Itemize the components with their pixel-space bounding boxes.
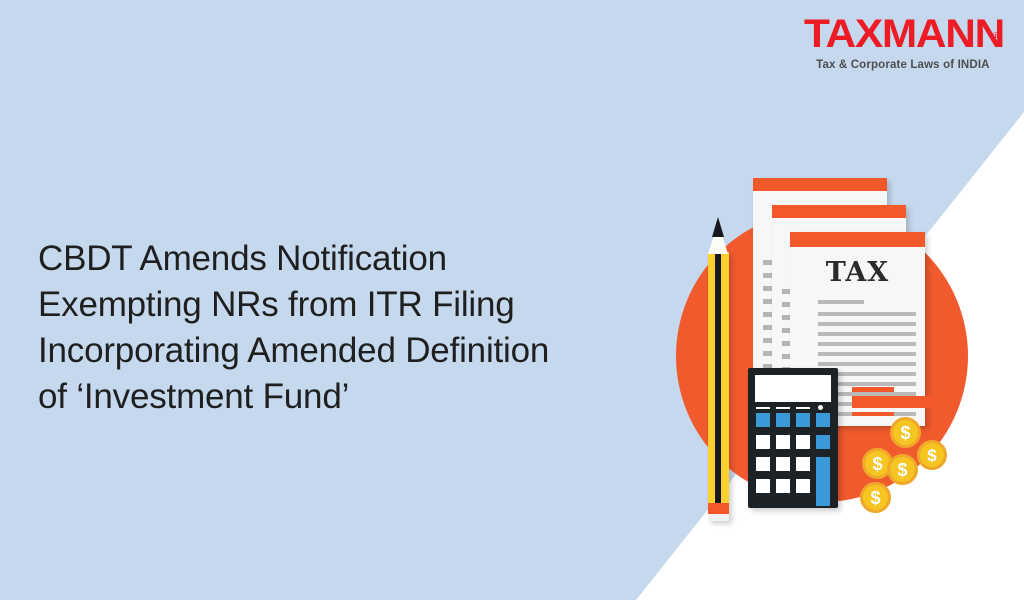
logo-wordmark: TAXMANN <box>804 14 1004 54</box>
logo-wordmark-row: TAXMANN® <box>804 14 1002 54</box>
logo-tagline: Tax & Corporate Laws of INDIA <box>804 60 1002 72</box>
registered-trademark-icon: ® <box>993 30 1002 43</box>
article-banner: TAX <box>0 0 1024 600</box>
taxmann-logo[interactable]: TAXMANN® Tax & Corporate Laws of INDIA <box>804 14 1002 72</box>
page-title: CBDT Amends Notification Exempting NRs f… <box>38 236 578 420</box>
